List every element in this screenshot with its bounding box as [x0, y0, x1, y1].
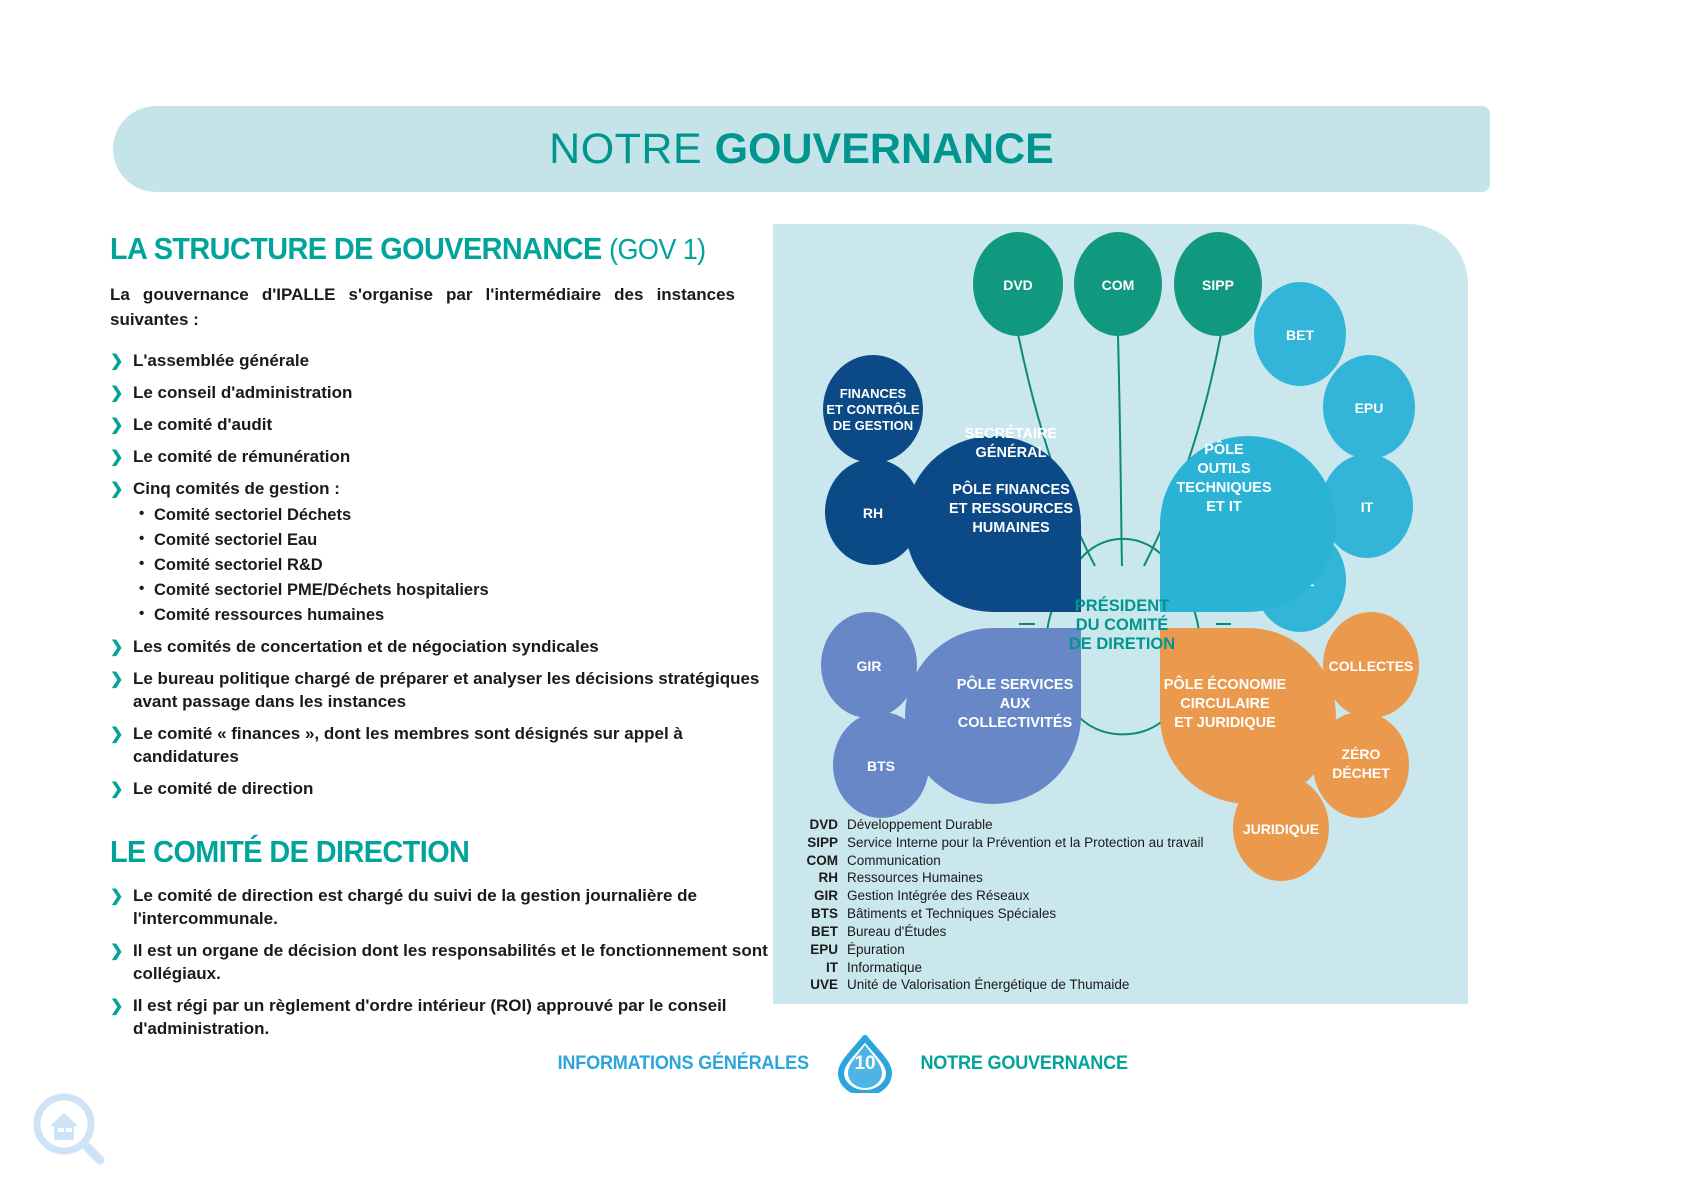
- node-com[interactable]: COM: [1074, 232, 1162, 336]
- arrow-bullet-icon: ❯: [110, 669, 123, 691]
- page-footer: INFORMATIONS GÉNÉRALES 10 NOTRE GOUVERNA…: [0, 1035, 1684, 1093]
- arrow-bullet-icon: ❯: [110, 724, 123, 746]
- page-title-bold: GOUVERNANCE: [715, 125, 1054, 173]
- pole-finances-rh[interactable]: SECRÉTAIRE GÉNÉRAL PÔLE FINANCES ET RESS…: [905, 425, 1081, 612]
- page-title: NOTRE GOUVERNANCE: [549, 125, 1054, 174]
- dot-bullet-icon: •: [139, 528, 144, 549]
- legend-row: BTS Bâtiments et Techniques Spéciales: [788, 905, 1448, 923]
- legend-row: IT Informatique: [788, 959, 1448, 977]
- arrow-bullet-icon: ❯: [110, 415, 123, 437]
- section-heading-structure: LA STRUCTURE DE GOUVERNANCE (GOV 1): [110, 232, 728, 267]
- arrow-bullet-icon: ❯: [110, 637, 123, 659]
- pole-outils-label-1: PÔLE: [1204, 440, 1244, 458]
- node-finances-controle-label-3: DE GESTION: [833, 418, 913, 433]
- list-item-label: Le comité « finances », dont les membres…: [133, 724, 683, 766]
- node-collectes[interactable]: COLLECTES: [1323, 612, 1419, 718]
- legend-abbr: IT: [788, 959, 847, 977]
- list-item-label: Le comité de rémunération: [133, 447, 350, 466]
- node-finances-controle-label-1: FINANCES: [840, 386, 907, 401]
- pole-economie-label-2: CIRCULAIRE: [1180, 696, 1270, 712]
- pole-finances-rh-label-3: PÔLE FINANCES: [952, 480, 1070, 498]
- arrow-bullet-icon: ❯: [110, 996, 123, 1018]
- node-it[interactable]: IT: [1321, 454, 1413, 558]
- sub-list-item: •Comité sectoriel R&D: [133, 554, 775, 577]
- legend-definition: Ressources Humaines: [847, 869, 983, 887]
- legend-row: GIR Gestion Intégrée des Réseaux: [788, 887, 1448, 905]
- sub-list-item-label: Comité ressources humaines: [154, 606, 384, 624]
- legend-abbr: GIR: [788, 887, 847, 905]
- list-item: ❯Le comité d'audit: [110, 414, 775, 437]
- legend-row: EPU Épuration: [788, 941, 1448, 959]
- list-item-label: Le comité d'audit: [133, 415, 272, 434]
- pole-economie-label-3: ET JURIDIQUE: [1174, 715, 1276, 731]
- node-bet-label: BET: [1286, 327, 1314, 343]
- list-item-label: Le bureau politique chargé de préparer e…: [133, 669, 759, 711]
- gestion-committee-sublist: •Comité sectoriel Déchets •Comité sector…: [133, 504, 775, 627]
- list-item: ❯Les comités de concertation et de négoc…: [110, 636, 775, 659]
- legend-row: COM Communication: [788, 852, 1448, 870]
- legend-definition: Bâtiments et Techniques Spéciales: [847, 905, 1056, 923]
- legend-abbr: BET: [788, 923, 847, 941]
- legend-definition: Unité de Valorisation Énergétique de Thu…: [847, 976, 1129, 994]
- page-number-badge: 10: [837, 1035, 893, 1093]
- sub-list-item-label: Comité sectoriel PME/Déchets hospitalier…: [154, 581, 489, 599]
- list-item-label: Il est régi par un règlement d'ordre int…: [133, 996, 727, 1038]
- arrow-bullet-icon: ❯: [110, 447, 123, 469]
- pole-economie-circulaire[interactable]: PÔLE ÉCONOMIE CIRCULAIRE ET JURIDIQUE: [1160, 628, 1336, 804]
- legend-abbr: RH: [788, 869, 847, 887]
- legend-abbr: UVE: [788, 976, 847, 994]
- sub-list-item: •Comité ressources humaines: [133, 604, 775, 627]
- sub-list-item-label: Comité sectoriel Déchets: [154, 506, 351, 524]
- governance-org-diagram: DVD COM SIPP BET EPU IT UVE: [773, 224, 1468, 1004]
- dot-bullet-icon: •: [139, 603, 144, 624]
- node-bet[interactable]: BET: [1254, 282, 1346, 386]
- node-epu[interactable]: EPU: [1323, 355, 1415, 459]
- legend-row: BET Bureau d'Études: [788, 923, 1448, 941]
- arrow-bullet-icon: ❯: [110, 351, 123, 373]
- node-gir-label: GIR: [857, 658, 882, 674]
- pole-finances-rh-label-4: ET RESSOURCES: [949, 501, 1073, 517]
- list-item: ❯Le comité « finances », dont les membre…: [110, 723, 775, 769]
- legend-definition: Bureau d'Études: [847, 923, 946, 941]
- list-item: ❯Il est un organe de décision dont les r…: [110, 940, 775, 986]
- page-header-banner: NOTRE GOUVERNANCE: [113, 106, 1490, 192]
- legend-definition: Gestion Intégrée des Réseaux: [847, 887, 1029, 905]
- node-dvd-label: DVD: [1003, 277, 1033, 293]
- list-item-label: Le conseil d'administration: [133, 383, 352, 402]
- dot-bullet-icon: •: [139, 553, 144, 574]
- list-item: ❯Le comité de rémunération: [110, 446, 775, 469]
- legend-abbr: DVD: [788, 816, 847, 834]
- house-magnifier-icon: [30, 1090, 110, 1170]
- node-finances-controle-label-2: ET CONTRÔLE: [826, 402, 919, 417]
- pole-finances-rh-label-2: GÉNÉRAL: [976, 444, 1047, 461]
- intro-paragraph: La gouvernance d'IPALLE s'organise par l…: [110, 283, 735, 332]
- governance-bullet-list: ❯L'assemblée générale ❯Le conseil d'admi…: [110, 350, 775, 801]
- list-item-label: Cinq comités de gestion :: [133, 479, 340, 498]
- list-item-label: Le comité de direction: [133, 779, 313, 798]
- sub-list-item: •Comité sectoriel PME/Déchets hospitalie…: [133, 579, 775, 602]
- pole-services-collectivites[interactable]: PÔLE SERVICES AUX COLLECTIVITÉS: [905, 628, 1081, 804]
- left-content-column: LA STRUCTURE DE GOUVERNANCE (GOV 1) La g…: [110, 232, 775, 1050]
- node-sipp[interactable]: SIPP: [1174, 232, 1262, 336]
- center-label-line-3: DE DIRETION: [1069, 635, 1175, 653]
- section-heading-structure-code: (GOV 1): [609, 234, 706, 266]
- list-item-label: L'assemblée générale: [133, 351, 309, 370]
- footer-section-label: INFORMATIONS GÉNÉRALES: [557, 1053, 808, 1075]
- legend-abbr: BTS: [788, 905, 847, 923]
- list-item: ❯Cinq comités de gestion : •Comité secto…: [110, 478, 775, 627]
- list-item: ❯Le bureau politique chargé de préparer …: [110, 668, 775, 714]
- list-item: ❯Le comité de direction est chargé du su…: [110, 885, 775, 931]
- footer-page-title: NOTRE GOUVERNANCE: [921, 1053, 1128, 1075]
- node-collectes-label: COLLECTES: [1329, 658, 1414, 674]
- node-rh-label: RH: [863, 505, 883, 521]
- pole-outils-label-2: OUTILS: [1197, 461, 1250, 477]
- list-item: ❯Le conseil d'administration: [110, 382, 775, 405]
- pole-finances-rh-label-5: HUMAINES: [972, 520, 1050, 536]
- comite-direction-section: LE COMITÉ DE DIRECTION ❯Le comité de dir…: [110, 835, 775, 1041]
- legend-row: DVD Développement Durable: [788, 816, 1448, 834]
- section-heading-structure-bold: LA STRUCTURE DE GOUVERNANCE: [110, 231, 609, 266]
- node-it-label: IT: [1361, 499, 1374, 515]
- node-gir[interactable]: GIR: [821, 612, 917, 718]
- arrow-bullet-icon: ❯: [110, 886, 123, 908]
- abbreviation-legend: DVD Développement Durable SIPP Service I…: [788, 816, 1448, 994]
- legend-abbr: COM: [788, 852, 847, 870]
- node-finances-controle[interactable]: FINANCES ET CONTRÔLE DE GESTION: [823, 355, 923, 463]
- arrow-bullet-icon: ❯: [110, 779, 123, 801]
- node-dvd[interactable]: DVD: [973, 232, 1063, 336]
- node-com-label: COM: [1102, 277, 1135, 293]
- arrow-bullet-icon: ❯: [110, 479, 123, 501]
- pole-services-label-1: PÔLE SERVICES: [957, 675, 1074, 693]
- node-zero-dechet-label-1: ZÉRO: [1342, 746, 1381, 762]
- legend-abbr: SIPP: [788, 834, 847, 852]
- center-president-label: PRÉSIDENT DU COMITÉ DE DIRETION: [1069, 596, 1175, 653]
- sub-list-item-label: Comité sectoriel Eau: [154, 531, 317, 549]
- legend-definition: Informatique: [847, 959, 922, 977]
- list-item: ❯Il est régi par un règlement d'ordre in…: [110, 995, 775, 1041]
- center-label-line-1: PRÉSIDENT: [1075, 596, 1169, 615]
- legend-row: SIPP Service Interne pour la Prévention …: [788, 834, 1448, 852]
- sub-list-item: •Comité sectoriel Déchets: [133, 504, 775, 527]
- list-item: ❯L'assemblée générale: [110, 350, 775, 373]
- section-heading-comite-direction: LE COMITÉ DE DIRECTION: [110, 835, 728, 869]
- comite-direction-bullet-list: ❯Le comité de direction est chargé du su…: [110, 885, 775, 1041]
- dot-bullet-icon: •: [139, 578, 144, 599]
- arrow-bullet-icon: ❯: [110, 383, 123, 405]
- pole-outils-techniques[interactable]: PÔLE OUTILS TECHNIQUES ET IT: [1160, 436, 1336, 612]
- pole-finances-rh-label-1: SECRÉTAIRE: [965, 425, 1058, 442]
- legend-definition: Service Interne pour la Prévention et la…: [847, 834, 1203, 852]
- legend-definition: Communication: [847, 852, 941, 870]
- pole-outils-label-4: ET IT: [1206, 499, 1242, 515]
- node-bts-label: BTS: [867, 758, 895, 774]
- list-item-label: Il est un organe de décision dont les re…: [133, 941, 768, 983]
- node-zero-dechet-label-2: DÉCHET: [1332, 765, 1390, 781]
- node-sipp-label: SIPP: [1202, 277, 1234, 293]
- pole-economie-label-1: PÔLE ÉCONOMIE: [1164, 675, 1287, 693]
- node-epu-label: EPU: [1355, 400, 1384, 416]
- sub-list-item: •Comité sectoriel Eau: [133, 529, 775, 552]
- pole-services-label-2: AUX: [1000, 696, 1031, 712]
- dot-bullet-icon: •: [139, 503, 144, 524]
- sub-list-item-label: Comité sectoriel R&D: [154, 556, 323, 574]
- page-title-light: NOTRE: [549, 125, 714, 173]
- legend-row: UVE Unité de Valorisation Énergétique de…: [788, 976, 1448, 994]
- legend-definition: Développement Durable: [847, 816, 993, 834]
- page-number: 10: [837, 1035, 893, 1093]
- pole-services-label-3: COLLECTIVITÉS: [958, 714, 1073, 731]
- pole-outils-label-3: TECHNIQUES: [1176, 480, 1271, 496]
- list-item-label: Les comités de concertation et de négoci…: [133, 637, 599, 656]
- list-item: ❯Le comité de direction: [110, 778, 775, 801]
- legend-definition: Épuration: [847, 941, 905, 959]
- list-item-label: Le comité de direction est chargé du sui…: [133, 886, 697, 928]
- center-label-line-2: DU COMITÉ: [1076, 615, 1169, 634]
- legend-abbr: EPU: [788, 941, 847, 959]
- legend-row: RH Ressources Humaines: [788, 869, 1448, 887]
- arrow-bullet-icon: ❯: [110, 941, 123, 963]
